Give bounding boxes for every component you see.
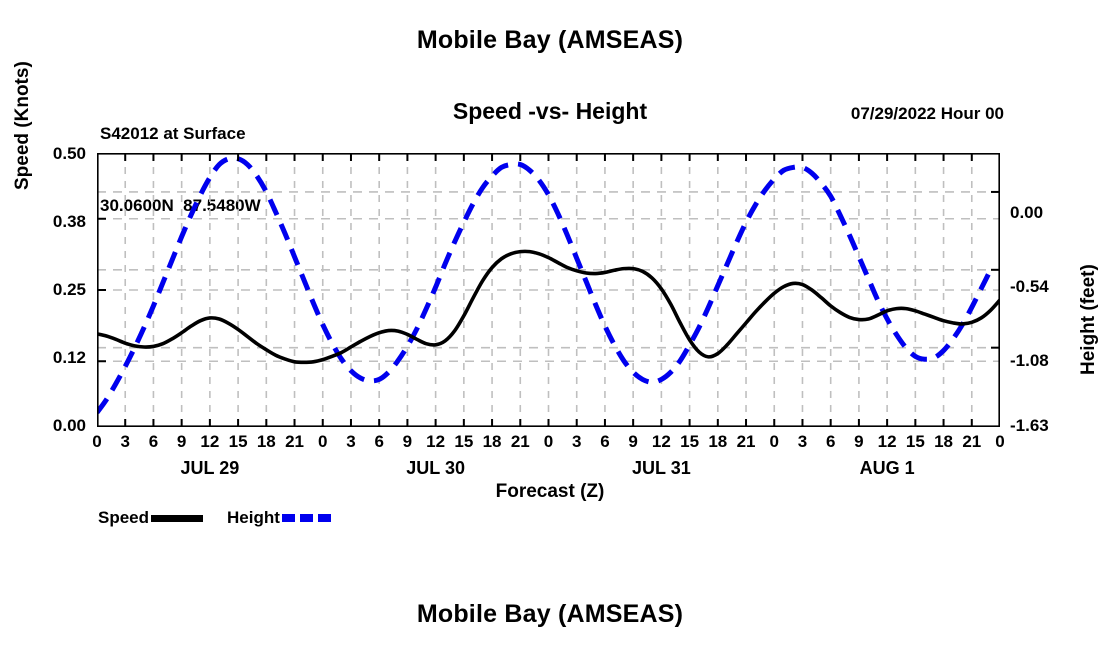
x-tick-label-20: 12 [646,432,676,452]
x-day-label-2: JUL 31 [601,458,721,479]
x-tick-label-19: 9 [618,432,648,452]
x-tick-label-23: 21 [731,432,761,452]
y-axis-right-title: Height (feet) [1078,264,1100,375]
legend-label-height: Height [227,508,280,528]
x-tick-label-30: 18 [929,432,959,452]
chart-canvas [97,153,1000,427]
x-tick-label-12: 12 [421,432,451,452]
x-tick-label-4: 12 [195,432,225,452]
page-title-top: Mobile Bay (AMSEAS) [0,26,1100,55]
x-tick-label-1: 3 [110,432,140,452]
y-tick-left-2: 0.25 [30,280,86,300]
y-tick-right-3: -1.63 [1010,416,1080,436]
x-tick-label-21: 15 [675,432,705,452]
x-axis-title: Forecast (Z) [0,481,1100,503]
x-tick-label-7: 21 [280,432,310,452]
chart-page: Mobile Bay (AMSEAS) S42012 at Surface 30… [0,0,1100,650]
x-tick-label-29: 15 [900,432,930,452]
y-tick-left-4: 0.00 [30,416,86,436]
x-tick-label-11: 9 [392,432,422,452]
y-tick-right-1: -0.54 [1010,277,1080,297]
run-date: 07/29/2022 Hour 00 [851,104,1004,124]
x-tick-label-0: 0 [82,432,112,452]
x-day-label-1: JUL 30 [376,458,496,479]
y-tick-right-2: -1.08 [1010,351,1080,371]
x-tick-label-27: 9 [844,432,874,452]
chart-legend: Speed Height [98,508,334,528]
x-tick-label-13: 15 [449,432,479,452]
x-tick-label-3: 9 [167,432,197,452]
page-title-bottom: Mobile Bay (AMSEAS) [0,600,1100,629]
x-tick-label-14: 18 [477,432,507,452]
x-tick-label-25: 3 [787,432,817,452]
x-tick-label-15: 21 [505,432,535,452]
y-tick-left-1: 0.38 [30,212,86,232]
station-name: S42012 at Surface [100,122,261,146]
x-tick-label-31: 21 [957,432,987,452]
y-tick-left-3: 0.12 [30,348,86,368]
x-day-label-0: JUL 29 [150,458,270,479]
x-tick-label-10: 6 [364,432,394,452]
x-tick-label-6: 18 [251,432,281,452]
legend-label-speed: Speed [98,508,149,528]
x-tick-label-18: 6 [590,432,620,452]
x-tick-label-24: 0 [759,432,789,452]
y-tick-left-0: 0.50 [30,144,86,164]
x-tick-label-22: 18 [703,432,733,452]
y-axis-left-title: Speed (Knots) [12,61,34,190]
legend-swatch-height-icon [282,514,334,522]
legend-swatch-speed-icon [151,515,203,522]
x-tick-label-8: 0 [308,432,338,452]
plot-area [97,153,1000,427]
x-day-label-3: AUG 1 [827,458,947,479]
x-tick-label-9: 3 [336,432,366,452]
x-tick-label-16: 0 [534,432,564,452]
x-tick-label-5: 15 [223,432,253,452]
x-tick-label-2: 6 [138,432,168,452]
x-tick-label-17: 3 [562,432,592,452]
x-tick-label-28: 12 [872,432,902,452]
x-tick-label-32: 0 [985,432,1015,452]
series-line-height [97,158,991,413]
x-tick-label-26: 6 [816,432,846,452]
y-tick-right-0: 0.00 [1010,203,1080,223]
